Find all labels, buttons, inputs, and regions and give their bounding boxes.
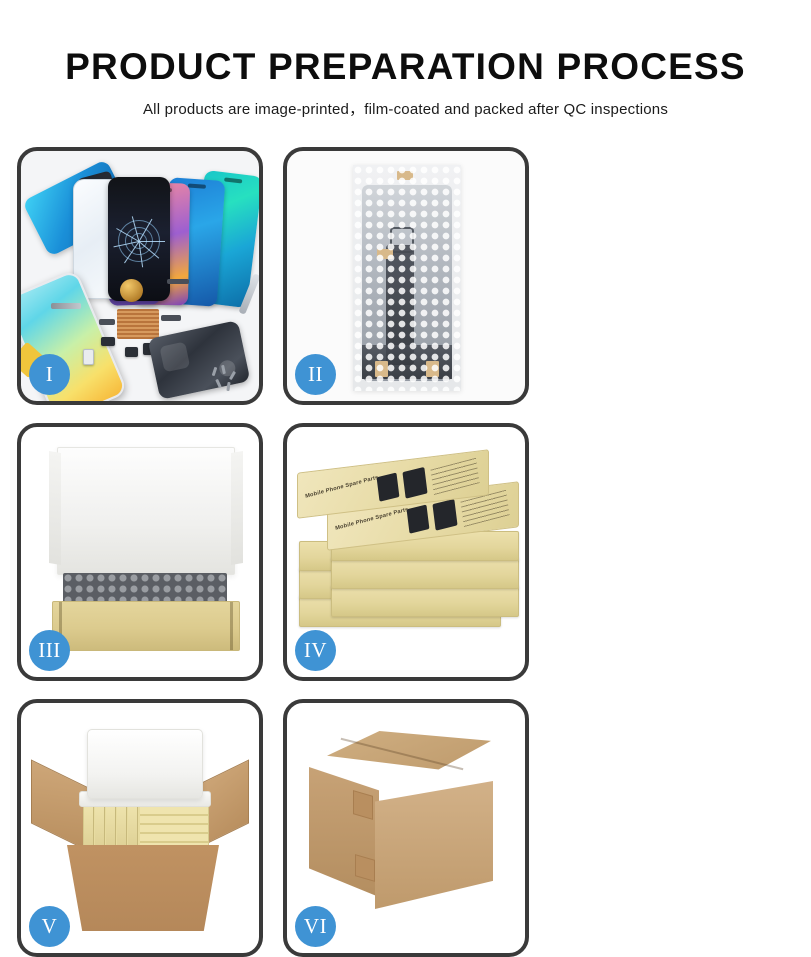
product-preparation-infographic: PRODUCT PREPARATION PROCESS All products… (0, 0, 811, 811)
bubble-wrap-fill (63, 573, 227, 603)
flex-cable-icon (167, 279, 189, 284)
crack-pattern-icon (112, 214, 166, 268)
step-badge-3: III (29, 630, 70, 671)
screws-icon (211, 365, 241, 393)
flex-cable-icon (161, 315, 181, 321)
process-step-5: V (17, 699, 263, 957)
small-part-icon (83, 349, 94, 365)
step-badge-4: IV (295, 630, 336, 671)
carton-right-face (375, 781, 493, 909)
carton-body (67, 845, 219, 931)
page-subtitle: All products are image-printed，film-coat… (0, 85, 811, 119)
step-badge-1: I (29, 354, 70, 395)
step-badge-6: VI (295, 906, 336, 947)
process-step-1: I (17, 147, 263, 405)
process-step-2: II (283, 147, 529, 405)
copper-coil-icon (120, 279, 143, 302)
bubble-wrap-bag (353, 165, 461, 391)
box-spec-lines (430, 458, 479, 495)
step-badge-2: II (295, 354, 336, 395)
bubble-texture (353, 165, 461, 391)
step-badge-5: V (29, 906, 70, 947)
box-label-text: Mobile Phone Spare Parts (305, 475, 379, 500)
chip-icon (101, 337, 115, 346)
process-panel-grid: I II I (17, 147, 794, 957)
process-step-6: VI (283, 699, 529, 957)
page-title: PRODUCT PREPARATION PROCESS (0, 0, 811, 85)
foam-lid (87, 729, 203, 799)
chip-icon (125, 347, 138, 357)
inner-kraft-boxes (83, 803, 209, 851)
box-window-icon (432, 499, 457, 531)
header: PRODUCT PREPARATION PROCESS All products… (0, 0, 811, 119)
sealed-carton (309, 731, 509, 911)
box-window-icon (407, 504, 430, 533)
box-window-icon (377, 472, 400, 501)
kraft-box-base (52, 601, 240, 651)
white-box-lid (57, 447, 235, 575)
adhesive-strip-icon (51, 303, 81, 309)
process-step-3: III (17, 423, 263, 681)
process-step-4: Mobile Phone Spare Parts Mobile Phone Sp… (283, 423, 529, 681)
copper-mesh-icon (117, 309, 159, 339)
flex-cable-icon (99, 319, 115, 325)
box-window-icon (402, 467, 427, 499)
box-stack: Mobile Phone Spare Parts Mobile Phone Sp… (297, 445, 523, 665)
